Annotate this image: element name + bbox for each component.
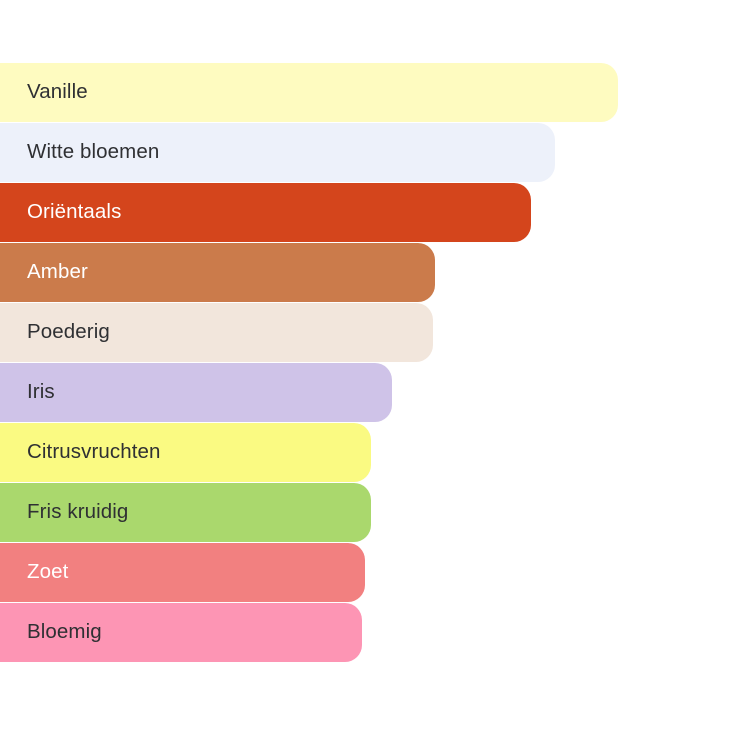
bar-label: Bloemig: [27, 602, 102, 662]
bar-row[interactable]: Amber: [0, 242, 730, 302]
bar-label: Zoet: [27, 542, 68, 602]
bar-row[interactable]: Zoet: [0, 542, 730, 602]
bar-label: Oriëntaals: [27, 182, 121, 242]
bar-row[interactable]: Citrusvruchten: [0, 422, 730, 482]
bar-row[interactable]: Oriëntaals: [0, 182, 730, 242]
bar-label: Iris: [27, 362, 55, 422]
bar-row[interactable]: Bloemig: [0, 602, 730, 662]
bar-row[interactable]: Vanille: [0, 62, 730, 122]
bar-fill[interactable]: [0, 63, 618, 122]
bar-chart-plot-area: VanilleWitte bloemenOriëntaalsAmberPoede…: [0, 62, 730, 662]
bar-label: Amber: [27, 242, 88, 302]
bar-fill[interactable]: [0, 363, 392, 422]
bar-label: Witte bloemen: [27, 122, 159, 182]
bar-row[interactable]: Poederig: [0, 302, 730, 362]
bar-row[interactable]: Fris kruidig: [0, 482, 730, 542]
bar-label: Citrusvruchten: [27, 422, 161, 482]
bar-row[interactable]: Iris: [0, 362, 730, 422]
bar-row[interactable]: Witte bloemen: [0, 122, 730, 182]
bar-label: Poederig: [27, 302, 110, 362]
bar-chart: VanilleWitte bloemenOriëntaalsAmberPoede…: [0, 0, 730, 730]
bar-label: Fris kruidig: [27, 482, 128, 542]
bar-label: Vanille: [27, 62, 88, 122]
